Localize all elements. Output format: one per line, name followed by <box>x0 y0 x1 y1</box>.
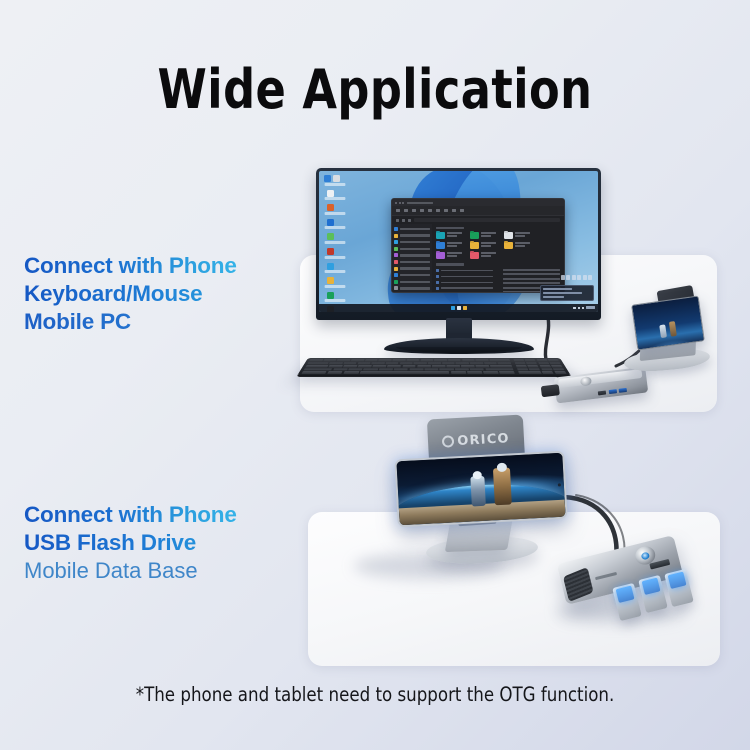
nav-item[interactable] <box>394 280 430 284</box>
file-list-pane[interactable] <box>432 224 564 293</box>
explorer-icon[interactable] <box>463 306 467 310</box>
astronaut-figure <box>470 475 486 506</box>
battery-icon[interactable] <box>582 307 585 310</box>
hub-cable-connector <box>541 384 560 397</box>
navigation-pane[interactable] <box>392 224 432 293</box>
notification-card[interactable] <box>540 285 594 301</box>
tablet-wallpaper <box>632 297 703 350</box>
folder-item[interactable] <box>504 232 530 239</box>
section-header-folders <box>436 227 464 229</box>
file-row[interactable] <box>503 273 560 275</box>
desktop-icon-column <box>322 175 348 312</box>
search-icon[interactable] <box>457 306 461 310</box>
cut-icon[interactable] <box>404 209 408 212</box>
folder-item[interactable] <box>470 232 496 239</box>
folder-item[interactable] <box>436 232 462 239</box>
delete-icon[interactable] <box>444 209 448 212</box>
usb-flash-drive <box>638 575 668 613</box>
nav-item[interactable] <box>394 240 430 244</box>
file-explorer-window[interactable] <box>391 198 565 293</box>
phone-flash-drive-scene: ORICO <box>308 425 723 670</box>
up-icon[interactable] <box>408 219 411 222</box>
path-field[interactable] <box>414 218 560 223</box>
window-title-bar[interactable] <box>392 199 564 206</box>
phone[interactable] <box>394 451 567 528</box>
rename-icon[interactable] <box>428 209 432 212</box>
copy-icon[interactable] <box>412 209 416 212</box>
address-bar[interactable] <box>392 216 564 224</box>
folder-grid <box>436 232 560 259</box>
sort-icon[interactable] <box>452 209 456 212</box>
window-title-text <box>407 202 433 204</box>
paste-icon[interactable] <box>420 209 424 212</box>
folder-item[interactable] <box>436 242 462 249</box>
desktop-icon[interactable] <box>322 204 348 218</box>
nav-item[interactable] <box>394 267 430 271</box>
file-row[interactable] <box>436 275 493 278</box>
feature-text-block-2: Connect with Phone USB Flash Drive Mobil… <box>24 501 237 585</box>
windows-taskbar[interactable] <box>319 304 598 312</box>
nav-item[interactable] <box>394 273 430 277</box>
view-icon[interactable] <box>460 209 464 212</box>
desktop-icon[interactable] <box>322 219 348 233</box>
orico-logo-mark <box>442 435 455 448</box>
folder-item[interactable] <box>504 242 530 249</box>
desktop-widget-pills <box>561 275 593 280</box>
keyboard-body <box>297 358 571 375</box>
explorer-toolbar[interactable] <box>392 206 564 216</box>
nav-item[interactable] <box>394 227 430 231</box>
file-row[interactable] <box>436 287 493 290</box>
monitor-base <box>384 338 534 354</box>
section-header-files <box>436 263 464 265</box>
file-row[interactable] <box>436 281 493 284</box>
phone-camera-icon <box>558 483 561 486</box>
nav-item[interactable] <box>394 247 430 251</box>
footnote: *The phone and tablet need to support th… <box>19 683 732 706</box>
taskbar-pinned-apps[interactable] <box>451 306 467 310</box>
nav-item[interactable] <box>394 234 430 238</box>
desktop-icon[interactable] <box>322 277 348 291</box>
nav-item[interactable] <box>394 260 430 264</box>
feature-1-line-1: Connect with Phone <box>24 252 237 280</box>
keyboard-main-block <box>302 359 515 373</box>
taskbar-system-tray[interactable] <box>573 306 595 309</box>
desktop-icon[interactable] <box>322 263 348 277</box>
desktop-icon[interactable] <box>322 175 348 189</box>
phone-frame <box>394 451 567 528</box>
folder-item[interactable] <box>470 252 496 259</box>
orico-wordmark: ORICO <box>457 431 510 449</box>
file-row[interactable] <box>503 278 560 280</box>
orico-logo: ORICO <box>442 431 510 450</box>
astronaut-figure <box>493 467 512 505</box>
clock[interactable] <box>586 306 595 309</box>
tablet-screen <box>631 295 705 350</box>
usb-flash-drive <box>612 583 642 621</box>
keyboard-numpad <box>514 359 567 373</box>
new-icon[interactable] <box>396 209 400 212</box>
window-controls[interactable] <box>395 202 404 204</box>
start-icon[interactable] <box>451 306 455 310</box>
folder-item[interactable] <box>470 242 496 249</box>
monitor-screen <box>319 171 598 312</box>
nav-item[interactable] <box>394 253 430 257</box>
file-row[interactable] <box>503 269 560 271</box>
monitor-neck <box>446 318 472 340</box>
forward-icon[interactable] <box>402 219 405 222</box>
share-icon[interactable] <box>436 209 440 212</box>
keyboard-edge <box>296 375 571 377</box>
feature-2-line-3: Mobile Data Base <box>24 557 237 585</box>
feature-2-line-2: USB Flash Drive <box>24 529 237 557</box>
file-row[interactable] <box>436 269 493 272</box>
desktop-icon[interactable] <box>322 248 348 262</box>
page-title: Wide Application <box>30 58 720 121</box>
volume-icon[interactable] <box>578 307 581 310</box>
folder-item[interactable] <box>436 252 462 259</box>
desktop-icon[interactable] <box>322 190 348 204</box>
feature-1-line-2: Keyboard/Mouse <box>24 280 237 308</box>
nav-item[interactable] <box>394 286 430 290</box>
tablet-stand-assembly <box>618 288 714 392</box>
usb-flash-drive <box>664 569 694 607</box>
feature-1-line-3: Mobile PC <box>24 308 237 336</box>
desktop-icon[interactable] <box>322 233 348 247</box>
explorer-body <box>392 224 564 293</box>
monitor <box>316 168 601 320</box>
feature-text-block-1: Connect with Phone Keyboard/Mouse Mobile… <box>24 252 237 336</box>
usb-flash-drive-group <box>616 575 712 621</box>
desktop-monitor-scene <box>300 160 720 415</box>
back-icon[interactable] <box>396 219 399 222</box>
hub-led-icon <box>641 551 650 560</box>
file-row[interactable] <box>503 282 560 284</box>
network-icon[interactable] <box>573 307 576 310</box>
feature-2-line-1: Connect with Phone <box>24 501 237 529</box>
keyboard[interactable] <box>297 358 571 375</box>
